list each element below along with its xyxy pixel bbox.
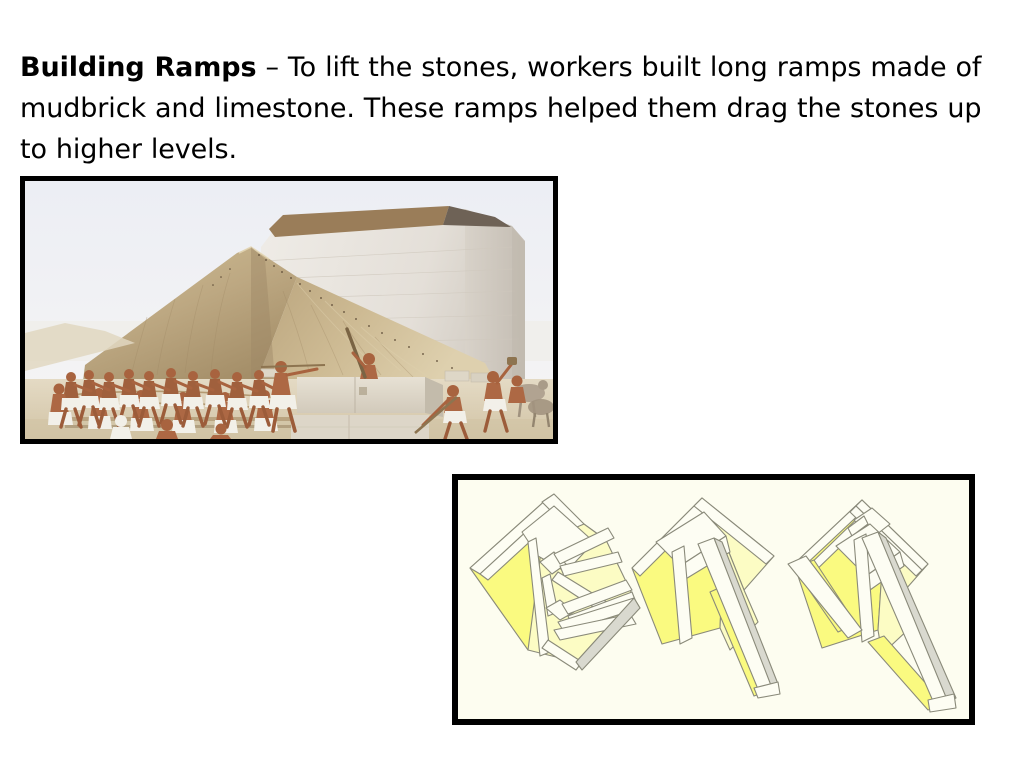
- ramp-designs-diagram: .yf { fill: #fafa80; stroke: #8a8a7a; st…: [452, 474, 975, 725]
- donkey-handler-head: [512, 376, 523, 387]
- pyramid-construction-illustration: [25, 181, 553, 439]
- slide-canvas: Building Ramps – To lift the stones, wor…: [0, 0, 1024, 768]
- block-mason-mark: [359, 387, 367, 395]
- caption-lead: Building Ramps: [20, 52, 256, 83]
- three-ramp-designs: .yf { fill: #fafa80; stroke: #8a8a7a; st…: [458, 480, 969, 719]
- pyramid-construction-photo: [20, 176, 558, 444]
- caption-separator: –: [256, 52, 287, 83]
- slide-caption: Building Ramps – To lift the stones, wor…: [20, 47, 995, 170]
- mallet-head: [507, 357, 517, 365]
